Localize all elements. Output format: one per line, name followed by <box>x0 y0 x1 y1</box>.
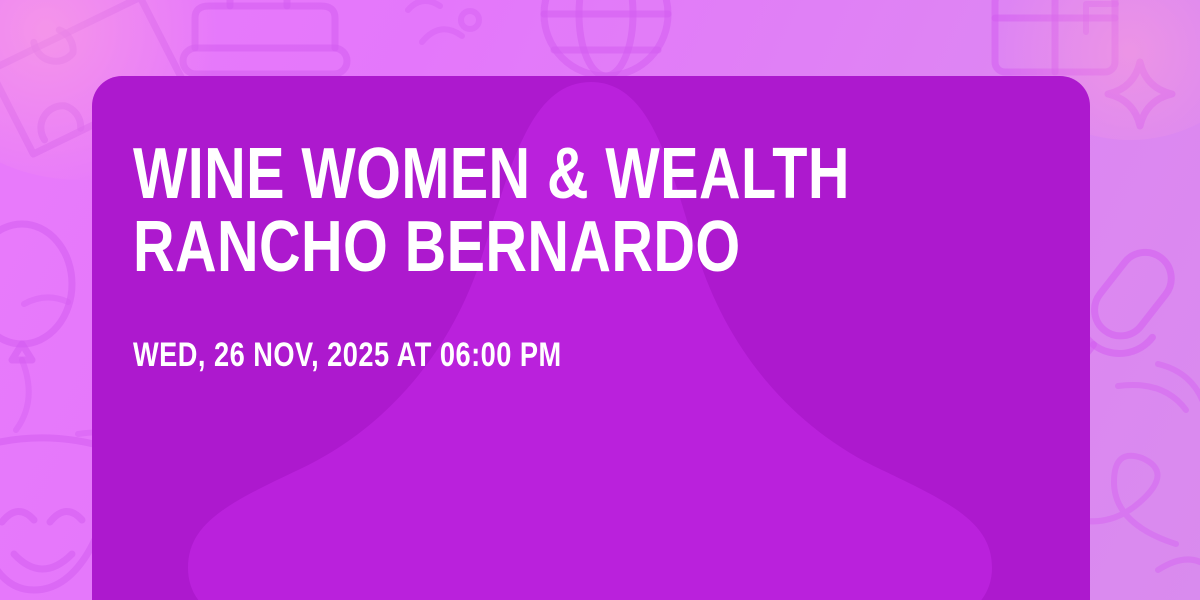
cake-icon <box>183 0 347 74</box>
globe-icon <box>544 0 668 76</box>
gift-icon <box>995 0 1115 72</box>
streamer-icon <box>1118 364 1200 410</box>
confetti-icon <box>408 1 479 42</box>
confetti-icon <box>24 297 68 304</box>
event-card: Wine Women & Wealth Rancho Bernardo Wed,… <box>92 76 1090 600</box>
event-title: Wine Women & Wealth Rancho Bernardo <box>133 138 1090 285</box>
card-content: Wine Women & Wealth Rancho Bernardo Wed,… <box>92 76 1090 374</box>
sparkle-icon <box>1108 62 1172 126</box>
balloon-icon <box>0 224 72 430</box>
event-date: Wed, 26 Nov, 2025 at 06:00 PM <box>133 337 1090 374</box>
event-poster: Wine Women & Wealth Rancho Bernardo Wed,… <box>0 0 1200 600</box>
sparkle-icon <box>1086 4 1116 32</box>
